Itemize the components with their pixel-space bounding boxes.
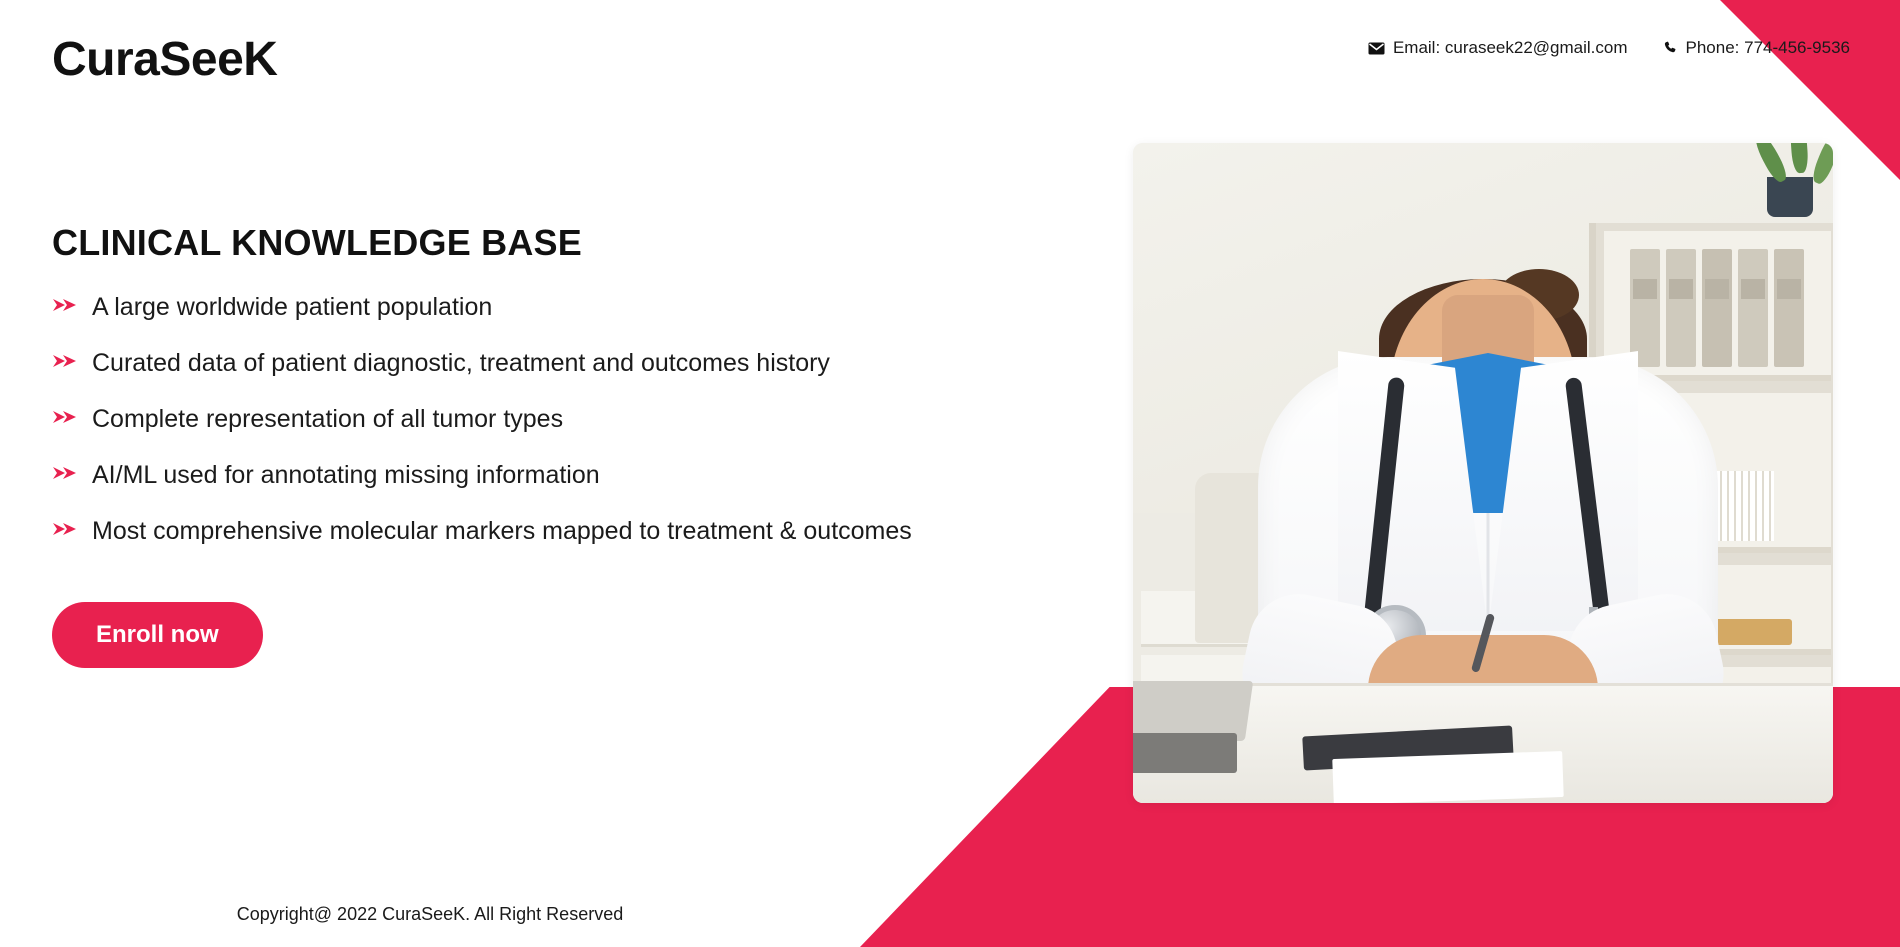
enroll-now-button[interactable]: Enroll now [52, 602, 263, 668]
contact-email[interactable]: Email: curaseek22@gmail.com [1368, 38, 1628, 58]
envelope-icon [1368, 42, 1385, 55]
list-item-label: Complete representation of all tumor typ… [92, 404, 563, 434]
arrow-right-icon [52, 352, 78, 375]
list-item-label: Curated data of patient diagnostic, trea… [92, 348, 830, 378]
desk [1133, 683, 1833, 803]
feature-list: A large worldwide patient population Cur… [52, 292, 1112, 546]
doctor-photo [1133, 143, 1833, 803]
list-item: Most comprehensive molecular markers map… [52, 516, 1112, 546]
site-logo[interactable]: CuraSeeK [52, 32, 277, 87]
arrow-right-icon [52, 520, 78, 543]
hero-content: CLINICAL KNOWLEDGE BASE A large worldwid… [52, 222, 1112, 668]
list-item: AI/ML used for annotating missing inform… [52, 460, 1112, 490]
contact-bar: Email: curaseek22@gmail.com Phone: 774-4… [1368, 38, 1850, 58]
footer-copyright: Copyright@ 2022 CuraSeeK. All Right Rese… [0, 904, 860, 925]
contact-email-text: Email: curaseek22@gmail.com [1393, 38, 1628, 58]
arrow-right-icon [52, 408, 78, 431]
arrow-right-icon [52, 296, 78, 319]
landing-page: CuraSeeK Email: curaseek22@gmail.com Pho… [0, 0, 1900, 947]
contact-phone[interactable]: Phone: 774-456-9536 [1664, 38, 1850, 58]
list-item-label: Most comprehensive molecular markers map… [92, 516, 912, 546]
list-item: Complete representation of all tumor typ… [52, 404, 1112, 434]
list-item: Curated data of patient diagnostic, trea… [52, 348, 1112, 378]
arrow-right-icon [52, 464, 78, 487]
list-item-label: A large worldwide patient population [92, 292, 492, 322]
page-title: CLINICAL KNOWLEDGE BASE [52, 222, 1112, 264]
photo-scene [1133, 143, 1833, 803]
list-item: A large worldwide patient population [52, 292, 1112, 322]
list-item-label: AI/ML used for annotating missing inform… [92, 460, 600, 490]
contact-phone-text: Phone: 774-456-9536 [1686, 38, 1850, 58]
phone-icon [1664, 41, 1678, 55]
